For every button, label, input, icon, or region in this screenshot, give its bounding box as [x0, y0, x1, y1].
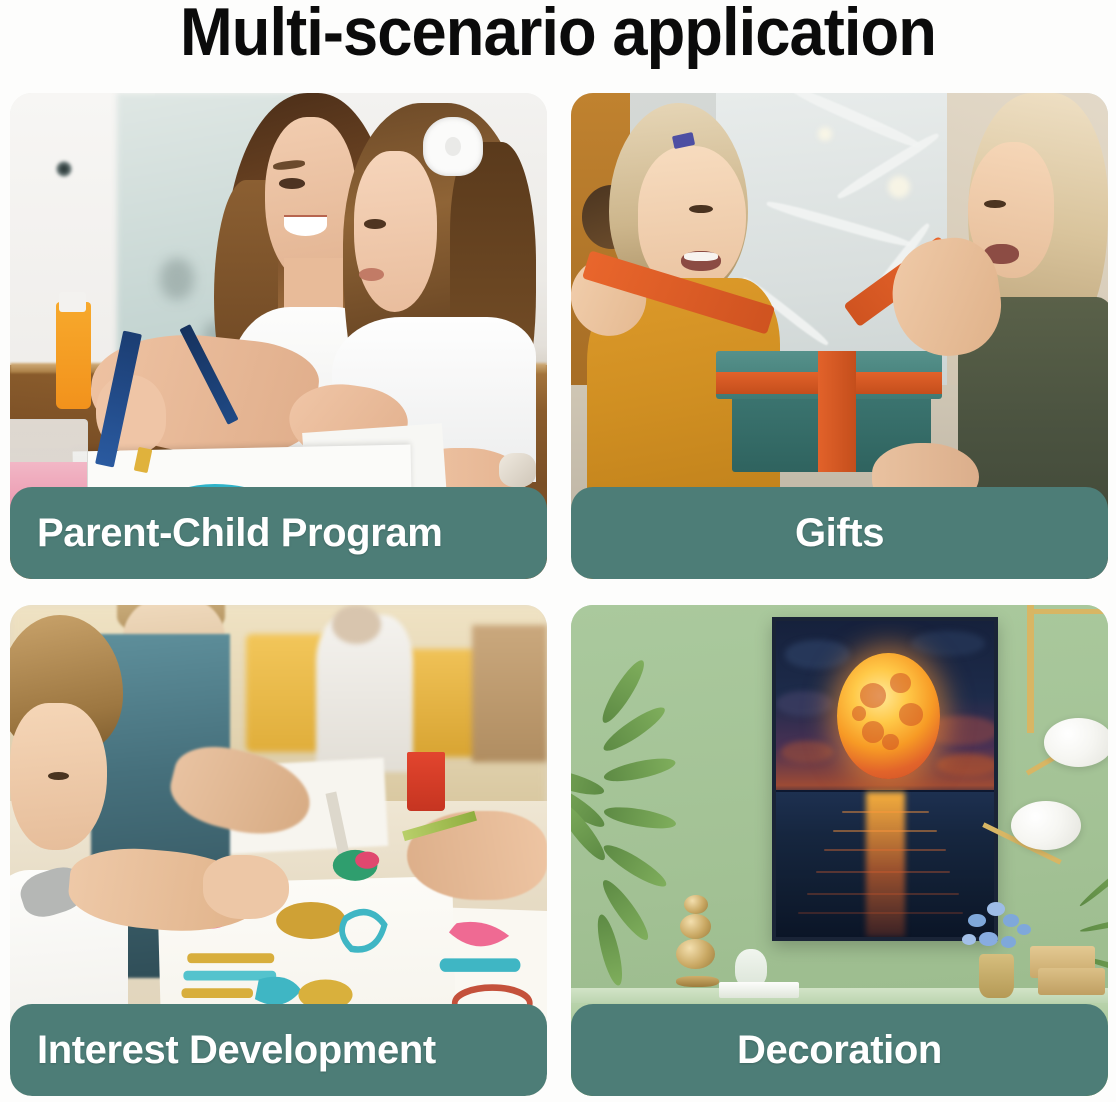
card-label-text: Gifts	[795, 511, 884, 556]
flower-vase-icon	[979, 954, 1014, 998]
wet-paint-blob	[321, 831, 396, 900]
lamp-globe-icon	[1044, 718, 1108, 767]
card-label-text: Decoration	[737, 1028, 942, 1073]
scenario-card-interest-development[interactable]: Interest Development	[10, 605, 547, 1096]
card-label-interest-development: Interest Development	[10, 1004, 547, 1096]
scenario-card-decoration[interactable]: Decoration	[571, 605, 1108, 1096]
paint-bottle-icon	[56, 302, 91, 409]
page-title: Multi-scenario application	[39, 0, 1077, 70]
woven-basket-2-icon	[1038, 968, 1105, 995]
scenario-card-gifts[interactable]: Gifts	[571, 93, 1108, 579]
card-label-parent-child-program: Parent-Child Program	[10, 487, 547, 579]
red-cup-icon	[407, 752, 445, 811]
wall-detail-icon	[56, 161, 72, 177]
framed-artwork	[772, 617, 998, 941]
lamp-rod-icon	[1027, 605, 1033, 733]
scenario-grid: Parent-Child Program	[10, 93, 1108, 1096]
moon-icon	[837, 653, 939, 779]
card-label-gifts: Gifts	[571, 487, 1108, 579]
wristwatch-icon	[499, 453, 537, 487]
card-label-text: Interest Development	[37, 1028, 436, 1073]
card-label-text: Parent-Child Program	[37, 511, 442, 556]
card-label-decoration: Decoration	[571, 1004, 1108, 1096]
scenario-card-parent-child-program[interactable]: Parent-Child Program	[10, 93, 547, 579]
books-stack-icon	[719, 982, 800, 998]
